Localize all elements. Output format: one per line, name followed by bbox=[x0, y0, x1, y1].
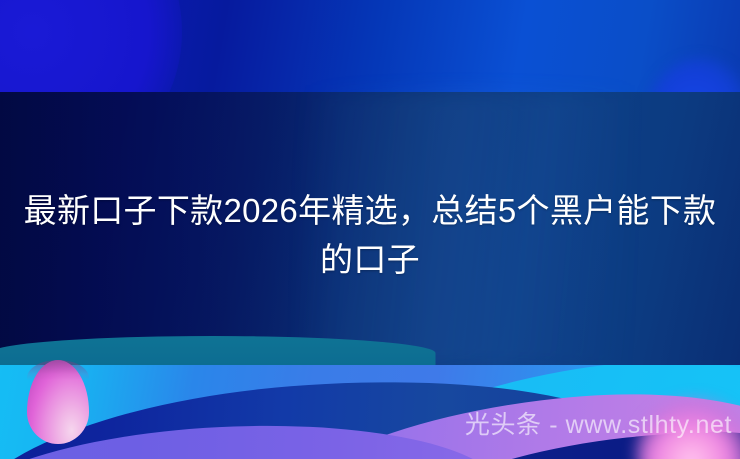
site-watermark: 光头条 - www.stlhty.net bbox=[0, 408, 732, 442]
blue-oval-blob-icon bbox=[645, 58, 740, 188]
teal-wave bbox=[0, 336, 436, 370]
blue-radial-blob-icon bbox=[0, 0, 182, 182]
poster-canvas: 最新口子下款2026年精选，总结5个黑户能下款的口子 光头条 - www.stl… bbox=[0, 0, 740, 459]
pink-egg-shadow bbox=[27, 360, 89, 380]
page-title: 最新口子下款2026年精选，总结5个黑户能下款的口子 bbox=[0, 186, 740, 284]
top-gradient-band bbox=[0, 0, 740, 92]
